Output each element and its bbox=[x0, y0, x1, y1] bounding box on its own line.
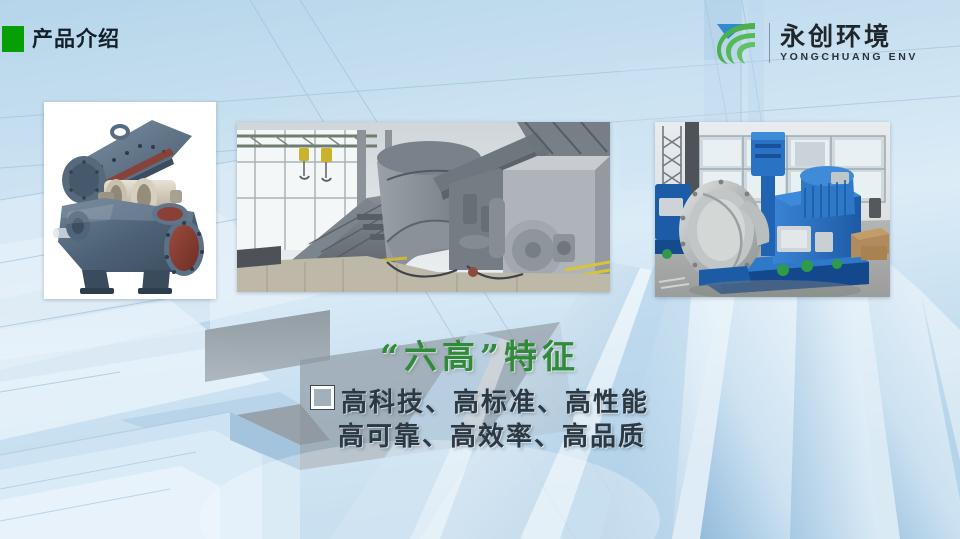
feature-bullet-text-2: 高可靠、高效率、高品质 bbox=[338, 422, 646, 452]
white-square-bullet-icon bbox=[311, 386, 334, 409]
feature-bullet-line-1: 高科技、高标准、高性能 bbox=[0, 386, 960, 420]
logo-divider bbox=[769, 23, 770, 63]
feature-bullet-block: 高科技、高标准、高性能 高可靠、高效率、高品质 bbox=[0, 386, 960, 454]
feature-bullet-text-1: 高科技、高标准、高性能 bbox=[341, 388, 649, 418]
feature-headline: “六高”特征 bbox=[0, 330, 960, 378]
logo-name-en: YONGCHUANG ENV bbox=[780, 51, 918, 64]
photo-pump bbox=[44, 102, 216, 299]
title-marker-square bbox=[2, 26, 24, 52]
feature-bullet-line-2: 高可靠、高效率、高品质 bbox=[0, 420, 960, 454]
yongchuang-swoosh-logo-icon bbox=[711, 20, 761, 66]
photo-blower bbox=[655, 122, 890, 297]
logo-name-cn: 永创环境 bbox=[780, 23, 918, 50]
slide-product-introduction: 产品介绍 永创环境 YONGCHUANG ENV bbox=[0, 0, 960, 539]
logo-text-block: 永创环境 YONGCHUANG ENV bbox=[780, 23, 918, 64]
company-logo: 永创环境 YONGCHUANG ENV bbox=[711, 18, 918, 68]
photo-factory bbox=[237, 122, 610, 292]
page-title: 产品介绍 bbox=[32, 25, 120, 53]
slide-header: 产品介绍 永创环境 YONGCHUANG ENV bbox=[0, 0, 960, 78]
